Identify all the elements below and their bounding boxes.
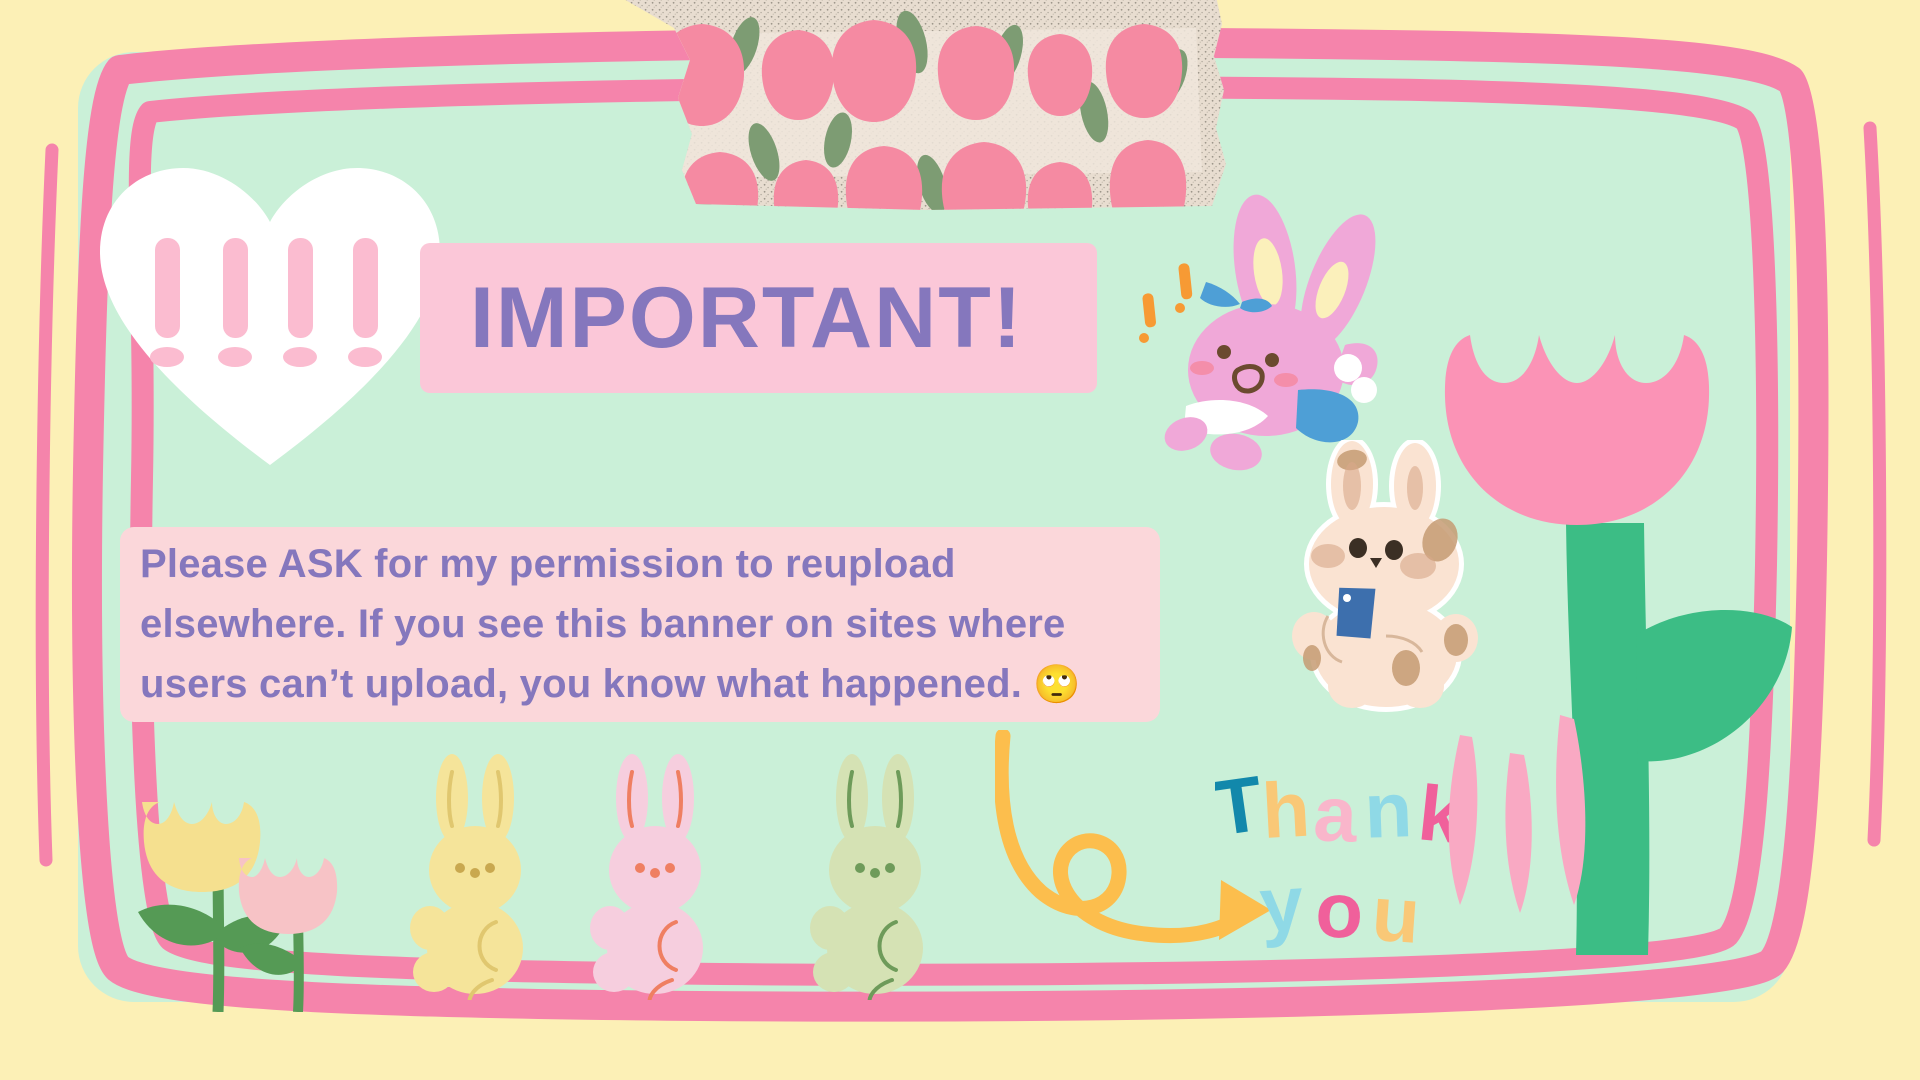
rolling-eyes-emoji: 🙄 (1033, 664, 1081, 706)
page-title: IMPORTANT! (470, 258, 1110, 378)
bunny-cookie-pink (590, 750, 720, 1000)
bunny-cookie-yellow (410, 750, 540, 1000)
body-paragraph: Please ASK for my permission to reupload… (140, 534, 1200, 715)
bunny-cookie-green (810, 750, 940, 1000)
body-line-1: Please ASK for my permission to reupload (140, 534, 1200, 594)
body-line-3: users can’t upload, you know what happen… (140, 654, 1200, 715)
big-tulip (1440, 255, 1815, 955)
heart-with-exclamations (95, 160, 445, 480)
svg-text:h: h (1260, 765, 1312, 855)
body-line-3-text: users can’t upload, you know what happen… (140, 662, 1022, 706)
banner-canvas: IMPORTANT! Please ASK for my permission … (0, 0, 1920, 1080)
small-tulips (100, 762, 350, 1012)
svg-text:y: y (1257, 859, 1306, 950)
svg-text:n: n (1363, 765, 1414, 855)
svg-text:u: u (1369, 869, 1423, 960)
svg-text:o: o (1314, 865, 1365, 955)
svg-text:a: a (1312, 769, 1359, 858)
washi-tape-tulips (616, 0, 1230, 212)
body-line-2: elsewhere. If you see this banner on sit… (140, 594, 1200, 654)
